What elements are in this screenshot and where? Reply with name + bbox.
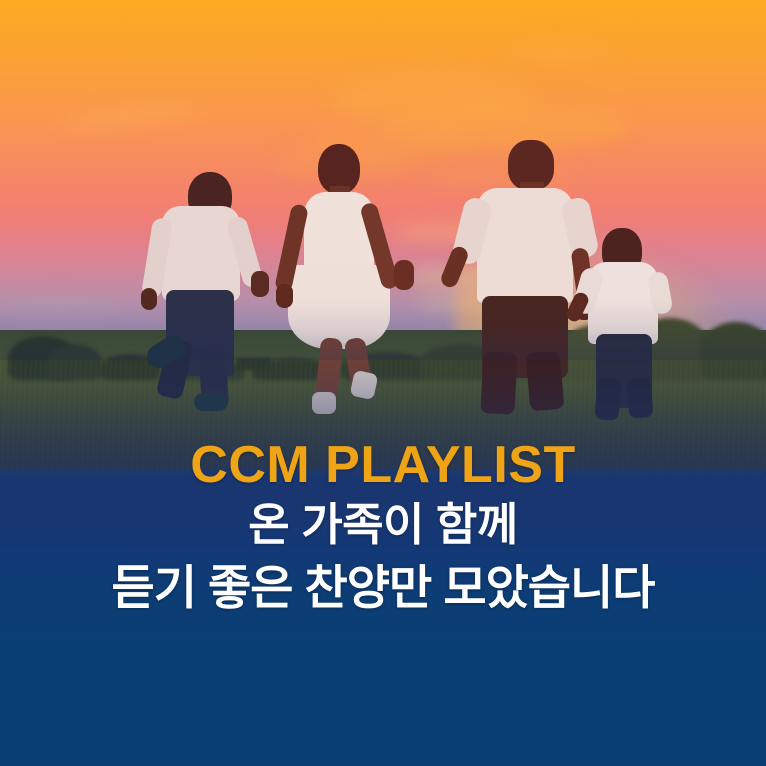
cloud-icon bbox=[500, 42, 620, 62]
hand-right bbox=[251, 271, 269, 297]
headline-ccm-playlist: CCM PLAYLIST bbox=[0, 436, 766, 494]
playlist-card: CCM PLAYLIST 온 가족이 함께 듣기 좋은 찬양만 모았습니다 bbox=[0, 0, 766, 766]
shirt bbox=[477, 188, 573, 303]
subtitle-line-1: 온 가족이 함께 bbox=[0, 494, 766, 556]
subtitle-line-2: 듣기 좋은 찬양만 모았습니다 bbox=[0, 556, 766, 620]
hand-right bbox=[394, 260, 414, 290]
shirt bbox=[162, 206, 240, 301]
caption-block: CCM PLAYLIST 온 가족이 함께 듣기 좋은 찬양만 모았습니다 bbox=[0, 436, 766, 620]
cloud-icon bbox=[420, 165, 580, 187]
